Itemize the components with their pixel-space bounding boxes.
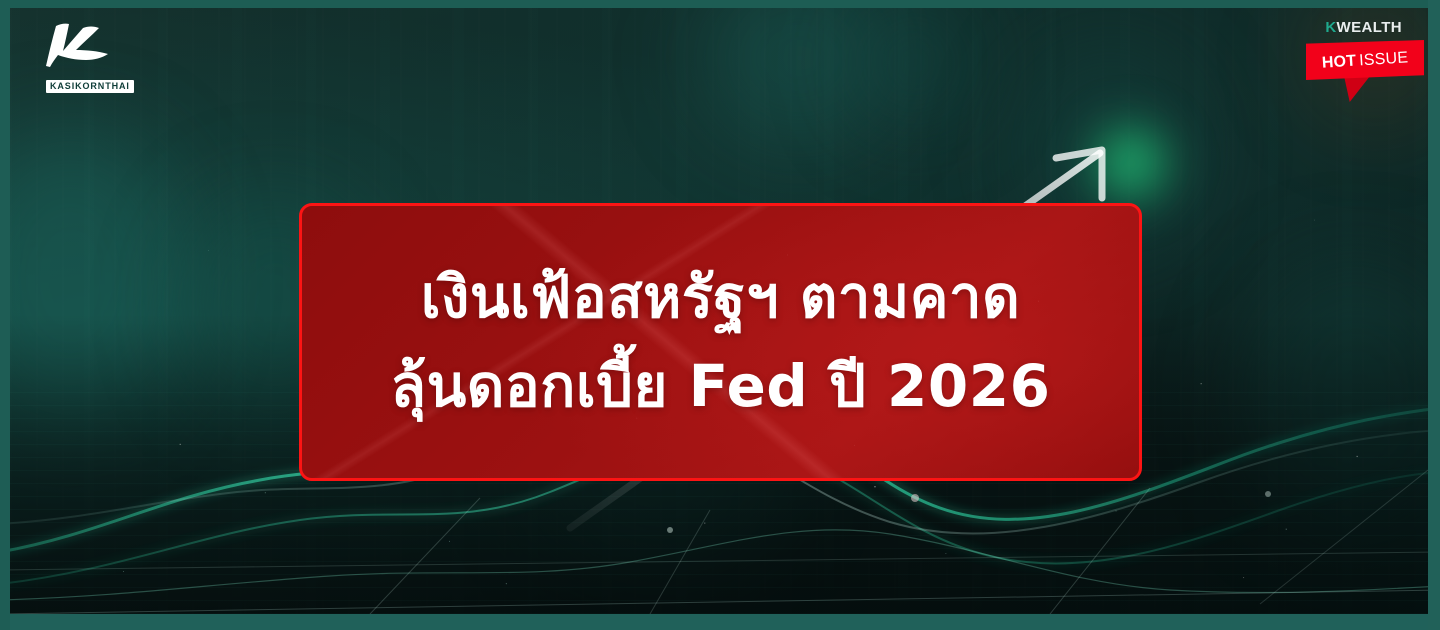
frame-bottom — [0, 614, 1440, 630]
hot-issue-badge-label: HOT ISSUE — [1305, 36, 1425, 83]
logo-wordmark-box: KASIKORNTHAI — [46, 80, 134, 93]
frame-left — [0, 0, 10, 630]
kwealth-brand[interactable]: KWEALTH — [1325, 20, 1402, 36]
kwealth-k: K — [1325, 19, 1336, 36]
kwealth-wealth: WEALTH — [1337, 19, 1402, 36]
kwealth-wordmark: KWEALTH — [1325, 20, 1402, 36]
hot-label: HOT — [1321, 52, 1356, 71]
kasikornthai-logo[interactable]: KASIKORNTHAI — [28, 20, 124, 86]
headline-line-2: ลุ้นดอกเบี้ย Fed ปี 2026 — [391, 349, 1051, 423]
arrow-glow — [1076, 108, 1186, 218]
frame-right — [1428, 0, 1440, 630]
kasikornthai-k-icon — [36, 20, 114, 68]
hot-issue-banner: KASIKORNTHAI KWEALTH HOT ISSUE เงินเฟ้อส… — [0, 0, 1440, 630]
logo-wordmark: KASIKORNTHAI — [50, 81, 130, 91]
hot-issue-badge[interactable]: HOT ISSUE — [1306, 40, 1424, 80]
headline-card-speckles — [302, 206, 1139, 478]
frame-top — [0, 0, 1440, 8]
headline-card: เงินเฟ้อสหรัฐฯ ตามคาด ลุ้นดอกเบี้ย Fed ป… — [299, 203, 1142, 481]
issue-label: ISSUE — [1359, 49, 1409, 69]
headline-line-1: เงินเฟ้อสหรัฐฯ ตามคาด — [421, 261, 1021, 333]
